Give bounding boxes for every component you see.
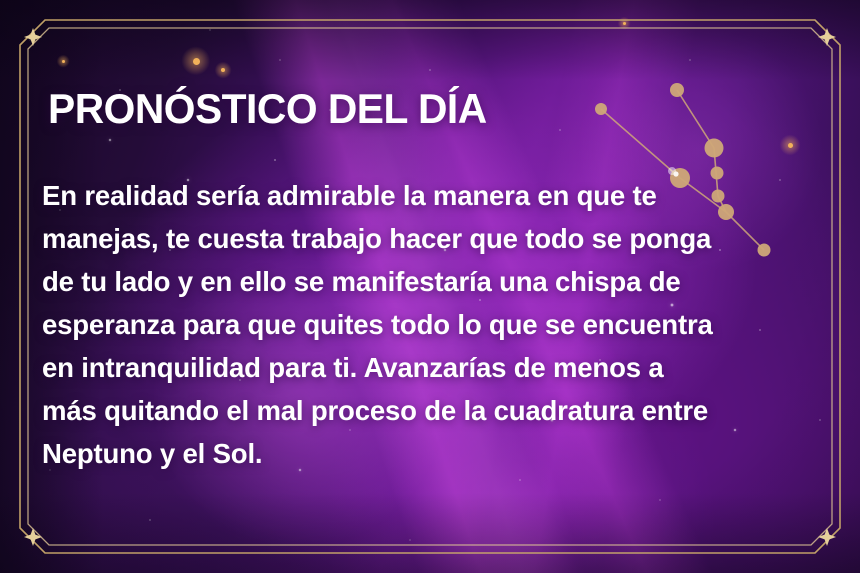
horoscope-body-line: manejas, te cuesta trabajo hacer que tod… [42, 217, 789, 260]
horoscope-body-line: en intranquilidad para ti. Avanzarías de… [42, 346, 789, 389]
horoscope-body-line: de tu lado y en ello se manifestaría una… [42, 260, 789, 303]
card-content: PRONÓSTICO DEL DÍA En realidad sería adm… [48, 88, 800, 475]
sparkle-bottom-right-icon [818, 528, 836, 546]
horoscope-body-line: En realidad sería admirable la manera en… [42, 174, 789, 217]
horoscope-body-line: más quitando el mal proceso de la cuadra… [42, 389, 789, 432]
horoscope-body: En realidad sería admirable la manera en… [42, 174, 789, 475]
page-title: PRONÓSTICO DEL DÍA [48, 88, 777, 130]
sparkle-top-right-icon [818, 28, 836, 46]
sparkle-top-left-icon [24, 28, 42, 46]
horoscope-body-line: Neptuno y el Sol. [42, 432, 789, 475]
horoscope-card: PRONÓSTICO DEL DÍA En realidad sería adm… [0, 0, 860, 573]
horoscope-body-line: esperanza para que quites todo lo que se… [42, 303, 789, 346]
sparkle-bottom-left-icon [24, 528, 42, 546]
